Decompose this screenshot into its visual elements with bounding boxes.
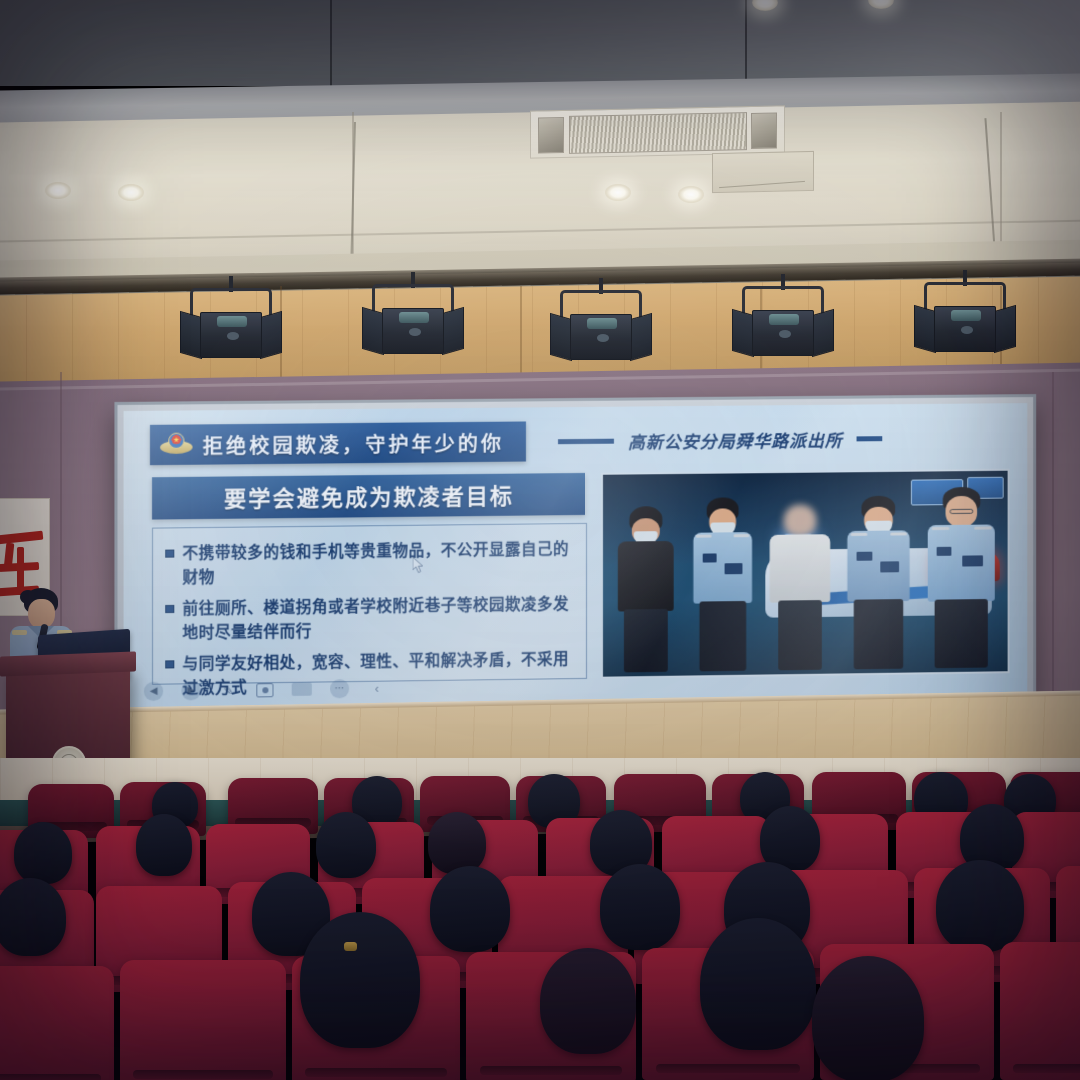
air-conditioner-icon: [530, 105, 785, 158]
audience-head: [136, 814, 192, 876]
bullet-text: 前往厕所、楼道拐角或者学校附近巷子等校园欺凌多发地时尽量结伴而行: [182, 593, 576, 647]
stage-light-fixture: [922, 282, 1008, 356]
audience-head: [936, 860, 1024, 952]
header-dash-icon: [857, 436, 883, 441]
ceiling-seam: [330, 0, 332, 88]
photo-person: [615, 506, 676, 672]
police-badge-icon: [160, 432, 192, 458]
pointer-icon[interactable]: [256, 683, 273, 697]
pen-icon[interactable]: ✎: [219, 683, 238, 698]
slide-section-title-text: 要学会避免成为欺凌者目标: [224, 479, 514, 514]
powerpoint-slide: 拒绝校园欺凌，守护年少的你 高新公安分局舜华路派出所 要学会避免成为欺凌者目标: [124, 403, 1028, 707]
ac-vent: [538, 117, 564, 154]
stage-light-fixture: [740, 286, 826, 360]
slide-header-plate: 拒绝校园欺凌，守护年少的你: [150, 421, 526, 465]
next-slide-button[interactable]: ▶: [181, 681, 200, 700]
audience-head: [0, 878, 66, 956]
ceiling-downlight: [118, 184, 144, 201]
back-icon[interactable]: ‹: [367, 681, 386, 696]
presentation-toolbar[interactable]: ◀ ▶ ✎ ⋯ ‹: [144, 679, 387, 701]
slide-photo: [601, 469, 1010, 679]
wood-panel-seam: [520, 286, 522, 384]
slide-header-title: 拒绝校园欺凌，守护年少的你: [203, 427, 504, 459]
slide-bullet-list: 不携带较多的钱和手机等贵重物品，不公开显露自己的财物 前往厕所、楼道拐角或者学校…: [152, 523, 587, 685]
mouse-cursor-icon: [413, 557, 425, 574]
photo-person: [692, 497, 753, 671]
seat: [0, 966, 114, 1080]
stage-light-fixture: [558, 290, 644, 364]
audience-seating: [0, 760, 1080, 1080]
all-slides-icon[interactable]: [292, 683, 312, 696]
previous-slide-button[interactable]: ◀: [144, 682, 163, 701]
ceiling-downlight: [605, 184, 631, 201]
slide-header: 拒绝校园欺凌，守护年少的你 高新公安分局舜华路派出所: [150, 417, 1014, 465]
more-options-icon[interactable]: ⋯: [330, 679, 349, 698]
audience-head: [812, 956, 924, 1080]
projection-screen[interactable]: 拒绝校园欺凌，守护年少的你 高新公安分局舜华路派出所 要学会避免成为欺凌者目标: [114, 394, 1036, 716]
photo-person: [846, 496, 911, 670]
audience-head: [14, 822, 72, 884]
bullet-square-icon: [165, 660, 174, 668]
ceiling-upper-shade: [0, 0, 1080, 86]
header-dash-icon: [558, 438, 614, 444]
audience-head: [430, 866, 510, 952]
seat: [1000, 942, 1080, 1080]
seat: [120, 960, 286, 1080]
stage-light-fixture: [370, 284, 456, 358]
bullet-square-icon: [165, 605, 174, 613]
hair-clip-icon: [344, 942, 357, 951]
slide-section-title: 要学会避免成为欺凌者目标: [152, 473, 585, 520]
epaulette: [12, 630, 27, 635]
audience-head: [316, 812, 376, 878]
ceiling-seam: [745, 0, 747, 88]
ceiling-downlight: [45, 182, 71, 199]
audience-head: [300, 912, 420, 1048]
ceiling-downlight: [678, 186, 704, 203]
stage-light-fixture: [188, 288, 274, 362]
ac-grille: [569, 112, 747, 154]
audience-head: [540, 948, 636, 1054]
photo-person: [927, 487, 995, 668]
slide-header-right: 高新公安分局舜华路派出所: [558, 426, 882, 454]
auditorium-photo: 拒绝校园欺凌，守护年少的你 高新公安分局舜华路派出所 要学会避免成为欺凌者目标: [0, 0, 1080, 1080]
bullet-text: 不携带较多的钱和手机等贵重物品，不公开显露自己的财物: [182, 538, 576, 592]
audience-head: [428, 812, 486, 874]
audience-head: [700, 918, 816, 1050]
ceiling-access-hatch: [712, 151, 814, 193]
bullet-square-icon: [165, 550, 174, 558]
list-item: 前往厕所、楼道拐角或者学校附近巷子等校园欺凌多发地时尽量结伴而行: [165, 593, 576, 647]
ac-vent: [751, 112, 777, 149]
audience-head: [600, 864, 680, 950]
projected-slide[interactable]: 拒绝校园欺凌，守护年少的你 高新公安分局舜华路派出所 要学会避免成为欺凌者目标: [124, 403, 1028, 707]
podium-top: [0, 651, 136, 676]
list-item: 不携带较多的钱和手机等贵重物品，不公开显露自己的财物: [165, 538, 576, 592]
slide-header-org: 高新公安分局舜华路派出所: [628, 426, 843, 453]
photo-person-blurred: [770, 501, 831, 671]
